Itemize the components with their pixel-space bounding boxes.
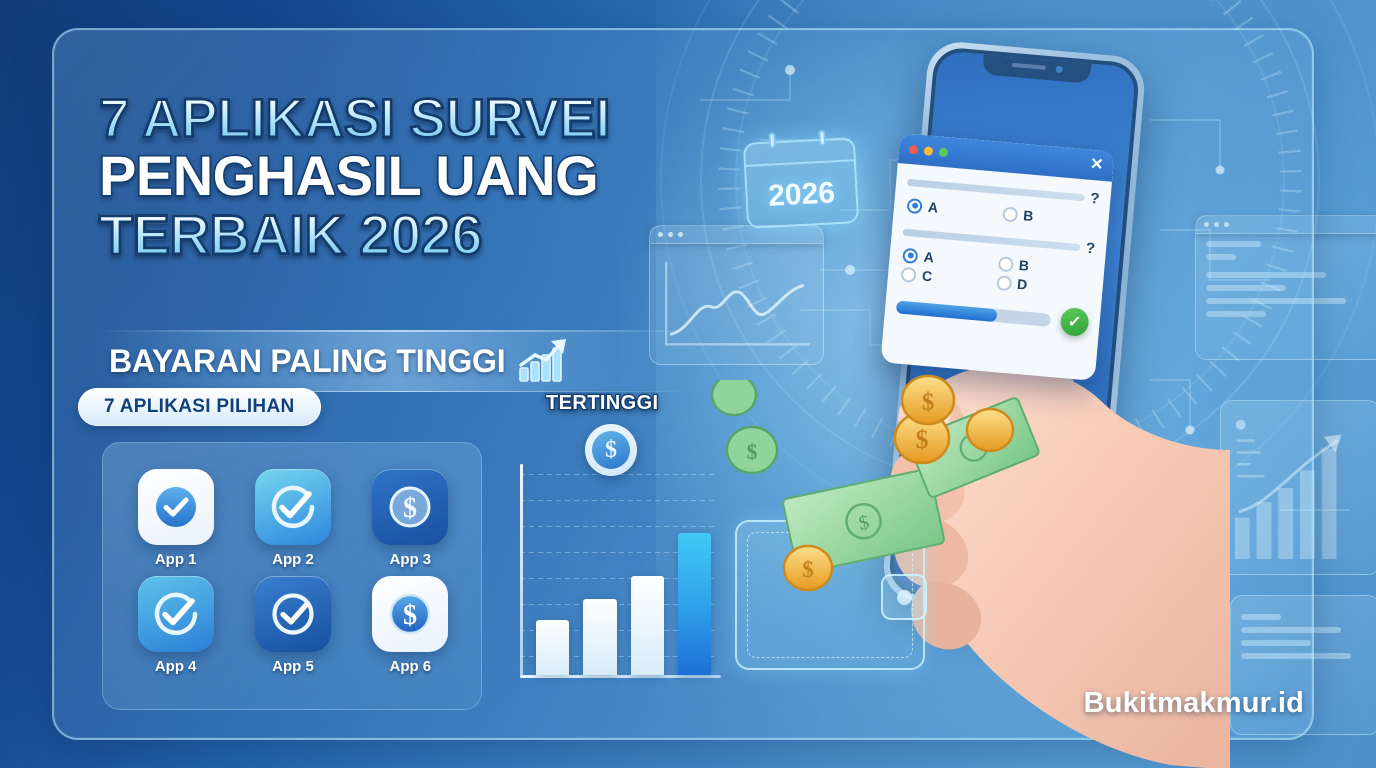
calendar-ring: [818, 130, 826, 146]
app-label: App 6: [389, 658, 431, 675]
question-mark: ?: [1090, 190, 1101, 208]
radio-icon[interactable]: [907, 197, 923, 213]
check-circle-icon: [267, 481, 319, 533]
calendar-year: 2026: [746, 161, 857, 229]
app-tile[interactable]: $: [372, 576, 448, 652]
radio-icon[interactable]: [902, 247, 918, 263]
check-circle-icon: [267, 588, 319, 640]
dollar-circle-icon: $: [384, 481, 436, 533]
chart-bar: [631, 576, 664, 675]
coin: $: [902, 376, 954, 424]
svg-text:$: $: [747, 439, 758, 464]
app-item[interactable]: App 5: [234, 576, 351, 675]
app-grid: App 1 App 2 $ App 3: [117, 469, 469, 675]
svg-text:$: $: [922, 389, 935, 416]
app-item[interactable]: $ App 3: [352, 469, 469, 568]
option-label: D: [1017, 276, 1028, 293]
chart-bar: [583, 599, 616, 675]
brand-watermark: Bukitmakmur.id: [1084, 687, 1304, 720]
app-item[interactable]: App 1: [117, 469, 234, 568]
chart-bar: [536, 620, 569, 675]
app-tile[interactable]: [138, 576, 214, 652]
headline-line-1: 7 APLIKASI SURVEI: [99, 92, 799, 145]
progress-bar: [896, 300, 1052, 326]
check-circle-icon: [150, 588, 202, 640]
app-tile[interactable]: [138, 469, 214, 545]
app-label: App 5: [272, 658, 314, 675]
option-label: A: [923, 249, 934, 266]
question-placeholder-bar: [903, 229, 1081, 251]
radio-icon[interactable]: [1002, 206, 1018, 222]
dollar-symbol: $: [592, 431, 630, 469]
question-placeholder-bar: [907, 179, 1085, 201]
app-item[interactable]: App 2: [234, 469, 351, 568]
coins-top: $: [880, 360, 1010, 480]
dollar-coin-icon: $: [585, 424, 637, 476]
app-item[interactable]: $ App 6: [352, 576, 469, 675]
close-icon[interactable]: ✕: [1089, 157, 1104, 174]
survey-card: ✕ ? A B ? A B: [880, 133, 1114, 381]
option-label: A: [927, 199, 938, 216]
option-label: B: [1023, 207, 1034, 224]
app-label: App 4: [155, 658, 197, 675]
window-dot-yellow[interactable]: [924, 146, 934, 156]
app-item[interactable]: App 4: [117, 576, 234, 675]
app-tile[interactable]: [255, 469, 331, 545]
radio-icon[interactable]: [996, 275, 1012, 291]
bar-chart: [502, 460, 717, 698]
radio-icon[interactable]: [901, 266, 917, 282]
coin: $: [784, 546, 832, 590]
coin-green: [712, 380, 756, 415]
headline-block: 7 APLIKASI SURVEI PENGHASIL UANG TERBAIK…: [99, 92, 799, 262]
growth-chart-icon: [517, 338, 569, 384]
check-icon[interactable]: ✓: [1059, 307, 1089, 337]
headline-line-2: PENGHASIL UANG: [99, 149, 799, 203]
progress-fill: [896, 300, 997, 322]
app-label: App 1: [155, 551, 197, 568]
option-label: C: [921, 268, 932, 285]
question-mark: ?: [1085, 240, 1096, 258]
app-tile[interactable]: [255, 576, 331, 652]
coin-green: $: [727, 427, 777, 473]
svg-text:$: $: [403, 600, 417, 631]
chart-bars: [536, 485, 711, 675]
app-label: App 3: [389, 551, 431, 568]
option-label: B: [1018, 257, 1029, 274]
subtitle-text: BAYARAN PALING TINGGI: [109, 343, 505, 380]
apps-badge: 7 APLIKASI PILIHAN: [78, 388, 321, 426]
subtitle-strip: BAYARAN PALING TINGGI: [99, 330, 699, 392]
survey-body: ? A B ? A B: [883, 163, 1112, 346]
chart-y-axis: [520, 464, 523, 676]
calendar-ring: [768, 132, 776, 148]
app-tile[interactable]: $: [372, 469, 448, 545]
app-label: App 2: [272, 551, 314, 568]
survey-footer: ✓: [895, 292, 1090, 337]
apps-card: App 1 App 2 $ App 3: [102, 442, 482, 710]
check-circle-icon: [151, 482, 201, 532]
dollar-circle-icon: $: [384, 588, 436, 640]
tertinggi-label: TERTINGGI: [546, 392, 659, 415]
option-b[interactable]: B: [1002, 205, 1099, 229]
chart-x-axis: [520, 675, 721, 678]
window-dot-red[interactable]: [909, 144, 919, 154]
headline-line-3: TERBAIK 2026: [99, 208, 799, 262]
window-dot-green[interactable]: [939, 147, 949, 157]
option-a[interactable]: A: [906, 197, 1003, 221]
svg-text:$: $: [802, 557, 814, 582]
calendar-icon: 2026: [743, 137, 859, 229]
svg-text:$: $: [403, 493, 417, 524]
radio-icon[interactable]: [997, 256, 1013, 272]
